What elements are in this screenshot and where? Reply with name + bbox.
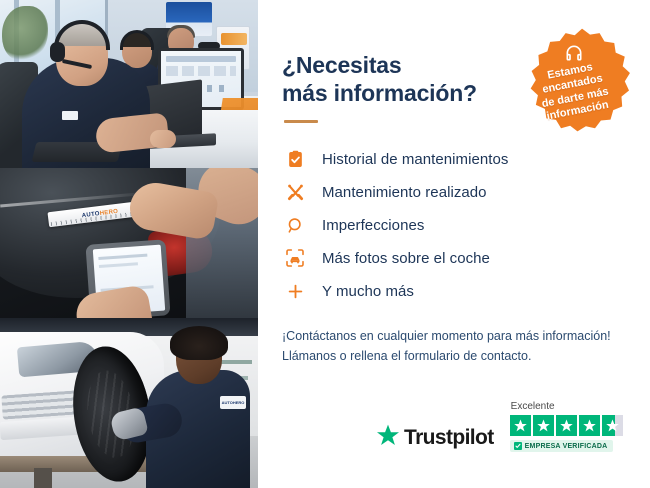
trustpilot-wordmark: Trustpilot (404, 426, 494, 450)
title-divider (284, 120, 318, 123)
contact-line-1: ¡Contáctanos en cualquier momento para m… (282, 327, 627, 346)
car-camera-frame-icon (282, 246, 308, 270)
photo-vehicle-inspection: AUTOHERO (0, 168, 258, 318)
main-agent-hand (150, 130, 176, 148)
magnifier-icon (282, 213, 308, 237)
trustpilot-rating-label: Excelente (511, 401, 555, 412)
plus-icon (282, 279, 308, 303)
tools-wrench-screwdriver-icon (282, 180, 308, 204)
clipboard-check-icon (282, 147, 308, 171)
headset-icon (564, 43, 584, 63)
monitor-screen-toolbar (166, 56, 236, 62)
page-title: ¿Necesitas más información? (282, 52, 497, 107)
photo-call-center-agents (0, 0, 258, 168)
trustpilot-star-filled (510, 415, 531, 436)
trustpilot-stars (510, 415, 623, 436)
trustpilot-rating[interactable]: Trustpilot Excelente (376, 401, 623, 452)
feature-label: Imperfecciones (322, 217, 424, 234)
feature-list: Historial de mantenimientos Mantenimient… (282, 143, 630, 307)
headline-line-1: ¿Necesitas (282, 52, 497, 80)
promo-badge: Estamos encantados de darte más informac… (516, 28, 632, 144)
trustpilot-star-filled (533, 415, 554, 436)
mechanic-uniform-badge: AUTOHERO (220, 396, 246, 409)
monitor-screen-thumbnails (166, 66, 236, 76)
headline-line-2: más información? (282, 80, 497, 108)
info-banner: AUTOHERO (0, 0, 650, 488)
trustpilot-star-partial (602, 415, 623, 436)
contact-text: ¡Contáctanos en cualquier momento para m… (282, 327, 627, 366)
car-lift-post (34, 468, 52, 488)
mechanic-uniform-badge-text: AUTOHERO (222, 400, 245, 405)
feature-item-maintenance-history: Historial de mantenimientos (282, 143, 630, 175)
trustpilot-score-block: Excelente (510, 401, 623, 452)
trustpilot-star-filled (579, 415, 600, 436)
trustpilot-star-icon (376, 423, 400, 452)
photo-mechanic-wheel: AUTOHERO (0, 318, 258, 488)
feature-item-much-more: Y mucho más (282, 275, 630, 307)
feature-item-maintenance-done: Mantenimiento realizado (282, 176, 630, 208)
feature-item-imperfections: Imperfecciones (282, 209, 630, 241)
main-agent-name-badge (62, 111, 78, 120)
trustpilot-logo[interactable]: Trustpilot (376, 423, 494, 452)
verified-company-label: EMPRESA VERIFICADA (525, 443, 608, 450)
feature-label: Historial de mantenimientos (322, 151, 508, 168)
content-panel: ¿Necesitas más información? Estamos enca… (258, 0, 650, 488)
photo-column: AUTOHERO (0, 0, 258, 488)
tablet-line-2 (99, 262, 138, 268)
verified-company-badge: EMPRESA VERIFICADA (510, 440, 614, 452)
mechanic-hair (170, 326, 228, 360)
feature-label: Más fotos sobre el coche (322, 250, 490, 267)
feature-item-more-photos: Más fotos sobre el coche (282, 242, 630, 274)
verified-check-icon (514, 442, 522, 450)
feature-label: Y mucho más (322, 283, 414, 300)
trustpilot-star-filled (556, 415, 577, 436)
tablet-line-1 (98, 254, 147, 260)
feature-label: Mantenimiento realizado (322, 184, 487, 201)
ruler-brand-label: AUTOHERO (81, 208, 118, 218)
contact-line-2: Llámanos o rellena el formulario de cont… (282, 347, 627, 366)
